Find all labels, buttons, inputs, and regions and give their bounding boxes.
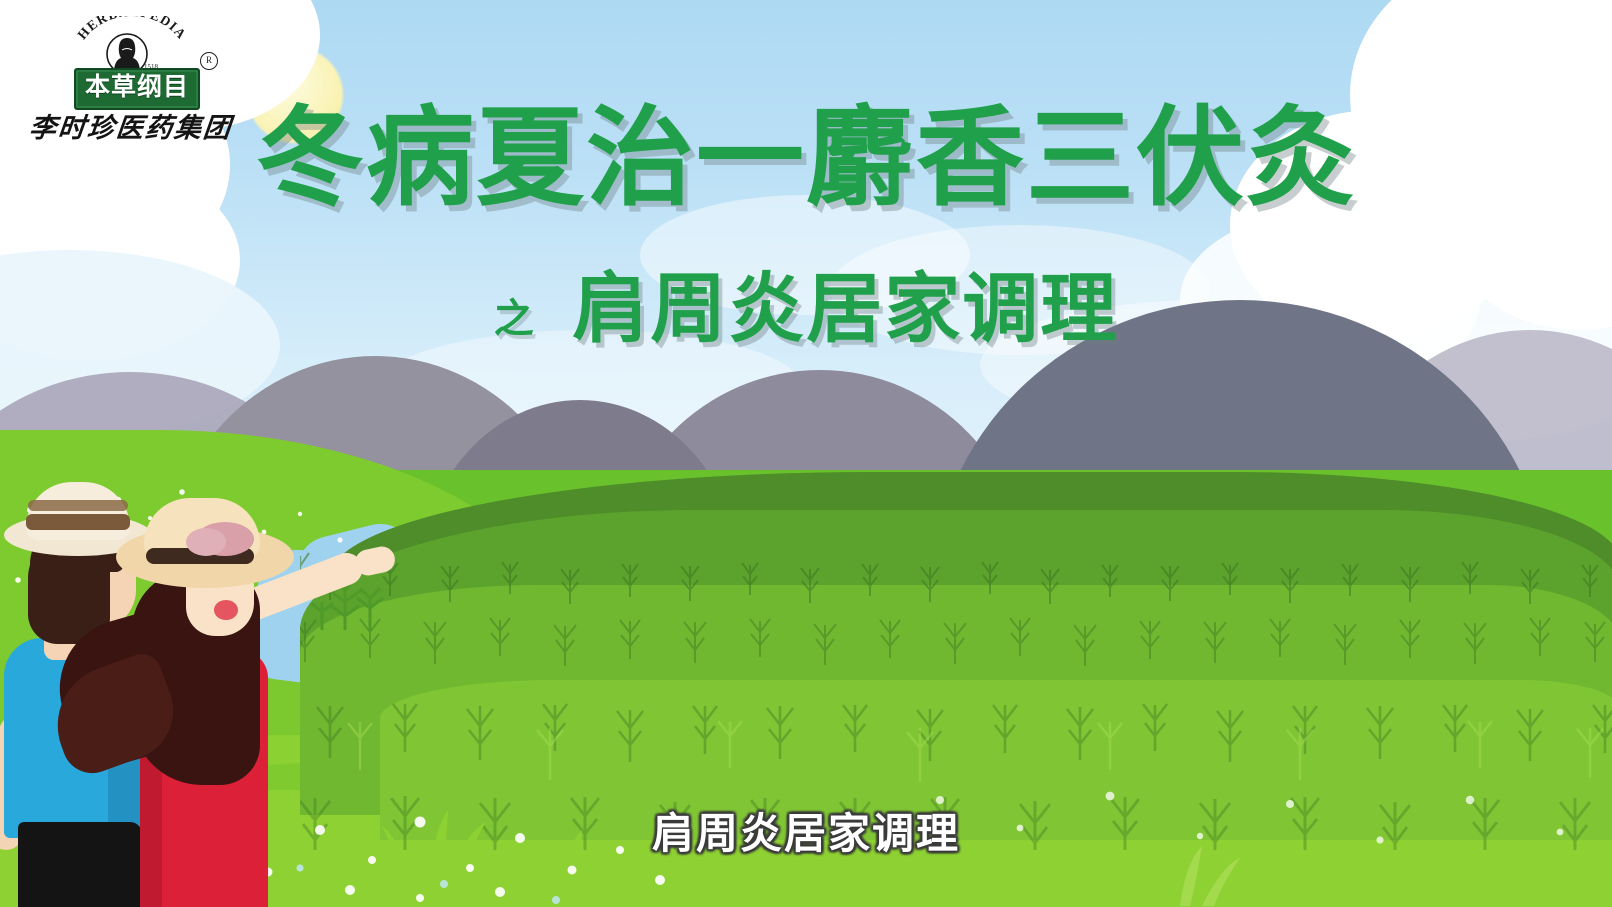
man-hat-band2 xyxy=(28,500,128,511)
video-caption: 肩周炎居家调理 xyxy=(0,800,1612,861)
man-hat-crown xyxy=(26,482,130,540)
caption-text: 肩周炎居家调理 xyxy=(652,800,960,861)
registered-trademark-icon: R xyxy=(200,52,218,70)
woman-hat-bow xyxy=(186,528,226,556)
man-hat-band xyxy=(26,514,130,530)
subtitle-prefix: 之 xyxy=(494,286,534,344)
video-frame: HERBALPEDIA 1518 R 本草纲目 李时珍医药集团 冬病夏治一麝香三… xyxy=(0,0,1612,907)
subtitle-text: 肩周炎居家调理 xyxy=(572,272,1118,348)
plaque-text: 本草纲目 xyxy=(76,70,198,106)
main-title: 冬病夏治一麝香三伏灸 xyxy=(0,104,1612,212)
main-title-text: 冬病夏治一麝香三伏灸 xyxy=(256,104,1356,212)
woman-ear xyxy=(214,600,238,620)
woman-hand xyxy=(353,544,398,578)
subtitle: 之 肩周炎居家调理 xyxy=(0,272,1612,348)
